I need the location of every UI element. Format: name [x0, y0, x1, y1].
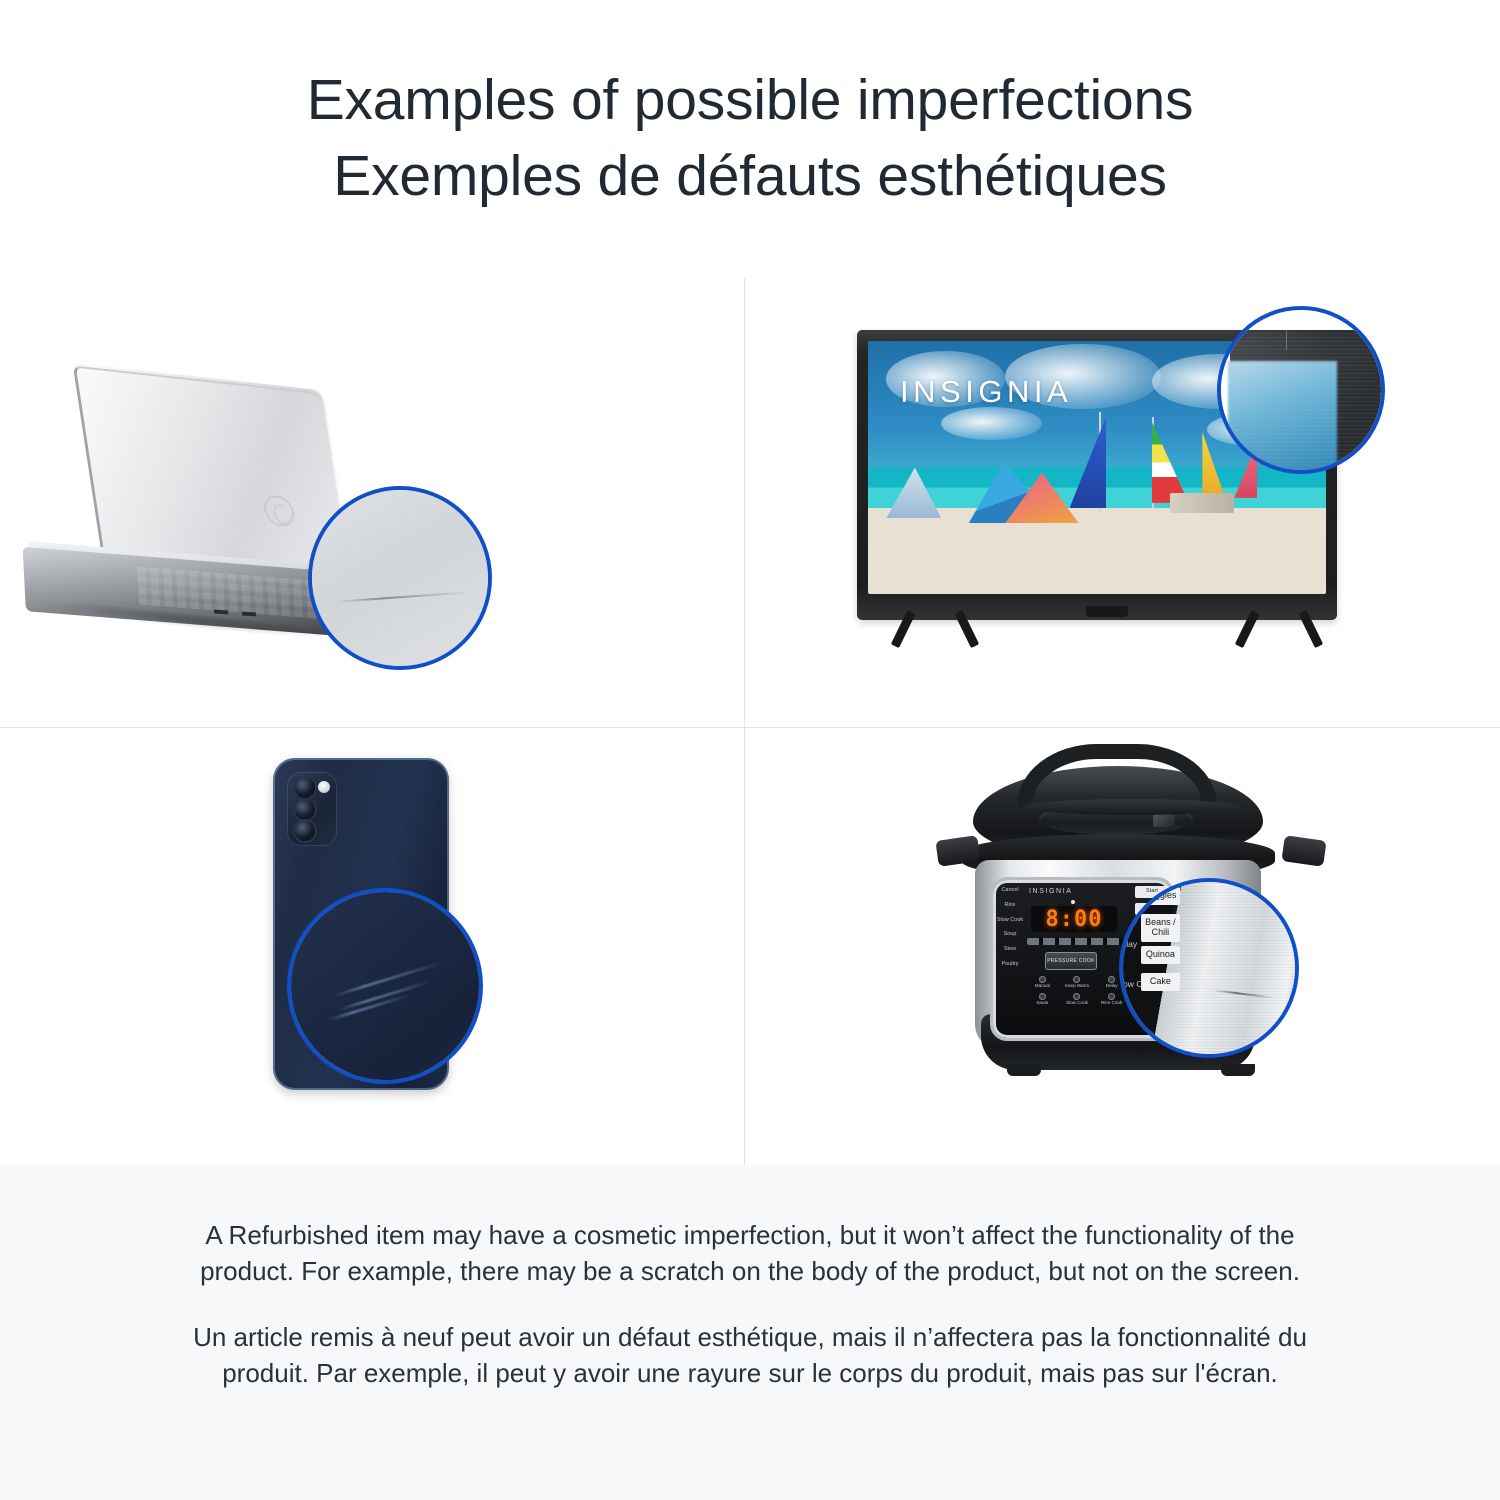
product-examples-grid: INSIGNIA: [0, 278, 1500, 1165]
cooker-steel-grain: [1173, 878, 1299, 1058]
cooker-mag-button-1: Beans / Chili: [1141, 914, 1181, 942]
laptop-magnified-surface: [308, 486, 492, 670]
laptop-magnifier-circle: [308, 486, 492, 670]
disclaimer-english: A Refurbished item may have a cosmetic i…: [180, 1217, 1320, 1289]
phone-magnifier-circle: [287, 888, 483, 1084]
television-illustration: INSIGNIA: [745, 278, 1500, 727]
camera-lens-1-icon: [295, 778, 315, 798]
cooker-timer-display: 8:00: [1031, 906, 1117, 932]
phone-camera-module: [287, 772, 337, 846]
cooker-left-button-1[interactable]: Rice: [995, 901, 1025, 911]
cooker-left-button-4[interactable]: Stew: [995, 945, 1025, 955]
laptop-illustration: [0, 278, 744, 727]
cooker-status-led: [1071, 900, 1075, 904]
cooker-left-button-0[interactable]: Cancel: [995, 886, 1025, 896]
cooker-foot-right: [1221, 1064, 1255, 1076]
cooker-mid-label-3: Saute: [1036, 1000, 1048, 1005]
tv-bezel-seam: [1286, 330, 1287, 350]
beached-sail-1: [886, 468, 941, 519]
sail-green-striped: [1152, 422, 1189, 503]
cooker-mag-button-2: Quinoa: [1141, 946, 1181, 964]
tv-leg-left: [897, 612, 973, 648]
cooker-mag-button-0: Veggies: [1141, 887, 1181, 905]
infographic-page: Examples of possible imperfections Exemp…: [0, 0, 1500, 1500]
cooker-lid-handle: [1017, 744, 1217, 806]
example-cell-smartphone: [0, 728, 745, 1165]
cooker-mid-label-4: Slow Cook: [1066, 1000, 1088, 1005]
tv-leg-right: [1241, 612, 1317, 648]
tv-magnified-surface: [1217, 306, 1385, 474]
tv-magnifier-circle: [1217, 306, 1385, 474]
cooker-magnified-surface: Delay Slow Cook Veggies Beans / Chili Qu…: [1119, 878, 1299, 1058]
cooker-brand-label: INSIGNIA: [1029, 888, 1073, 895]
cooker-mid-label-2: Delay: [1106, 983, 1118, 988]
page-title-french: Exemples de défauts esthétiques: [0, 138, 1500, 214]
cooker-foot-left: [1007, 1064, 1041, 1076]
phone-magnified-surface: [287, 888, 483, 1084]
disclaimer-french: Un article remis à neuf peut avoir un dé…: [180, 1319, 1320, 1391]
page-header: Examples of possible imperfections Exemp…: [0, 0, 1500, 214]
cooker-left-button-5[interactable]: Poultry: [995, 960, 1025, 970]
cooker-mid-button-grid: Manual Keep Warm Delay Saute Slow Cook R…: [1027, 976, 1127, 1006]
laptop-scratch-mark: [338, 592, 470, 603]
cooker-left-button-3[interactable]: Soup: [995, 930, 1025, 940]
cooker-pressure-cook-button[interactable]: PRESSURE COOK: [1045, 952, 1097, 970]
cooker-mid-button-0[interactable]: Manual: [1027, 976, 1058, 989]
example-cell-television: INSIGNIA: [745, 278, 1500, 728]
tv-bezel-grain: [1230, 330, 1385, 474]
pressure-cooker-illustration: INSIGNIA 8:00 PRESSURE COOK Cancel Rice …: [745, 728, 1500, 1165]
tv-brand-logo: INSIGNIA: [900, 374, 1072, 410]
cooker-mid-label-1: Keep Warm: [1065, 983, 1089, 988]
cooker-handle-right: [1281, 835, 1326, 867]
camera-lens-2-icon: [295, 800, 315, 820]
camera-lens-3-icon: [295, 821, 315, 841]
cooker-mid-button-3[interactable]: Saute: [1027, 993, 1058, 1006]
cooker-mid-button-1[interactable]: Keep Warm: [1062, 976, 1093, 989]
cooker-mid-label-0: Manual: [1035, 983, 1050, 988]
page-title-english: Examples of possible imperfections: [0, 62, 1500, 138]
cooker-magnifier-circle: Delay Slow Cook Veggies Beans / Chili Qu…: [1119, 878, 1299, 1058]
beach-boat-hull: [1170, 493, 1234, 513]
camera-flash-icon: [318, 781, 330, 793]
cooker-left-button-2[interactable]: Slow Cook: [995, 916, 1025, 926]
disclaimer-section: A Refurbished item may have a cosmetic i…: [0, 1165, 1500, 1500]
example-cell-pressure-cooker: INSIGNIA 8:00 PRESSURE COOK Cancel Rice …: [745, 728, 1500, 1165]
tv-ir-sensor: [1086, 606, 1128, 617]
cooker-mid-button-4[interactable]: Slow Cook: [1062, 993, 1093, 1006]
cooker-mag-button-3: Cake: [1141, 973, 1181, 991]
cloud-4: [941, 407, 1042, 440]
cooker-pressure-level-bar: [1027, 938, 1123, 945]
phone-scratch-mark-2: [338, 980, 433, 1012]
cooker-mid-label-5: Rice Cook: [1101, 1000, 1122, 1005]
smartphone-illustration: [0, 728, 744, 1165]
cooker-left-button-column: Cancel Rice Slow Cook Soup Stew Poultry: [995, 886, 1025, 970]
example-cell-laptop: [0, 278, 745, 728]
